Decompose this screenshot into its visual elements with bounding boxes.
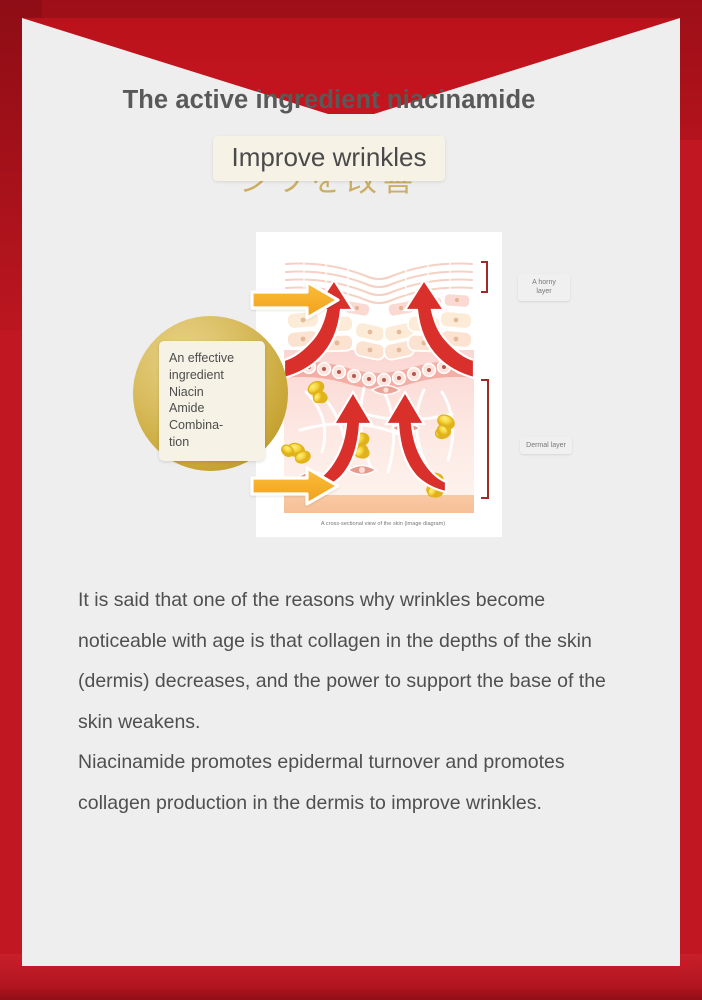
page-title: The active ingredient niacinamide xyxy=(0,86,658,115)
body-paragraph-2: Niacinamide promotes epidermal turnover … xyxy=(78,742,638,823)
gold-note-line: ingredient xyxy=(169,367,257,384)
gold-note-card: An effective ingredient Niacin Amide Com… xyxy=(159,341,265,461)
page-root: The active ingredient niacinamide シワを改善 … xyxy=(0,0,702,1000)
gold-note-line: tion xyxy=(169,434,257,451)
gold-note-line: An effective xyxy=(169,350,257,367)
subtitle-container: Improve wrinkles xyxy=(0,136,658,181)
label-horny-layer: A horny layer xyxy=(518,274,570,301)
label-dermal-layer: Dermal layer xyxy=(520,437,572,454)
body-paragraph-1: It is said that one of the reasons why w… xyxy=(78,580,638,742)
gold-note-line: Niacin xyxy=(169,384,257,401)
body-copy: It is said that one of the reasons why w… xyxy=(78,580,638,823)
gold-note-line: Combina- xyxy=(169,417,257,434)
gold-note-line: Amide xyxy=(169,400,257,417)
subtitle-badge: Improve wrinkles xyxy=(213,136,444,181)
yellow-arrow-right-top xyxy=(249,279,341,321)
yellow-arrow-right-bottom xyxy=(249,465,341,507)
diagram-caption: A cross-sectional view of the skin (imag… xyxy=(276,519,490,531)
